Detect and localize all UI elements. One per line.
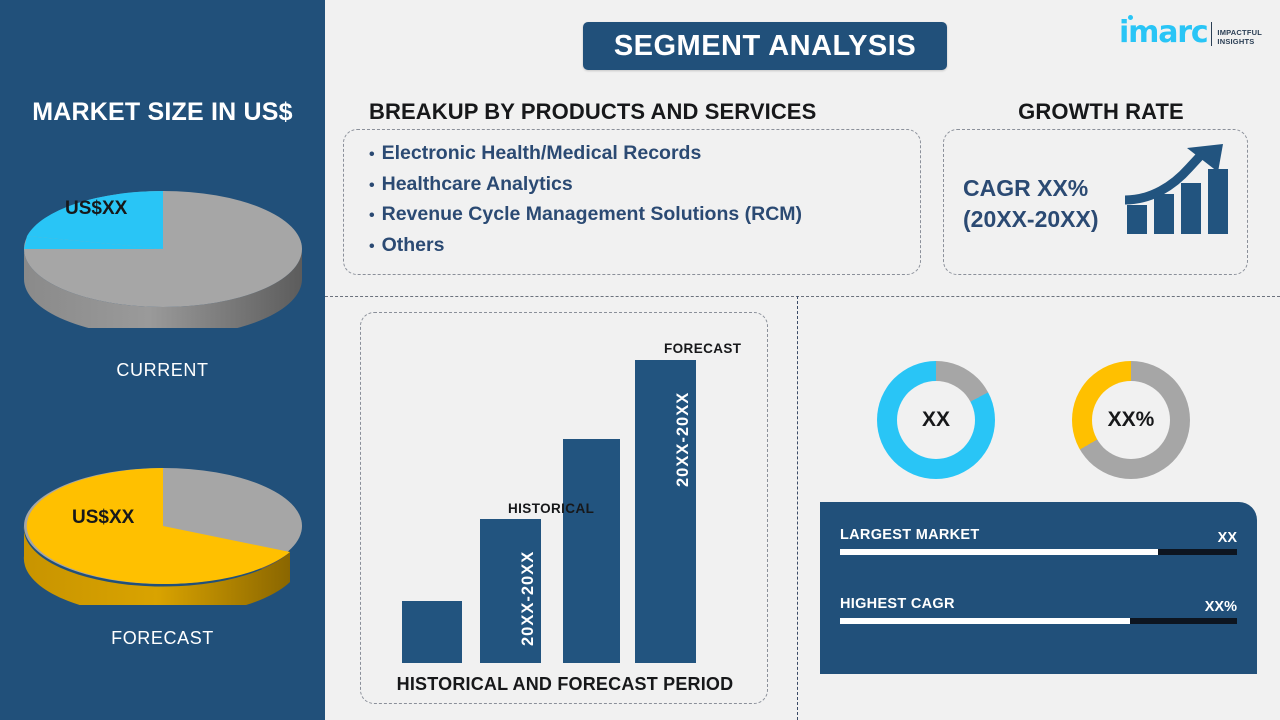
infographic-root: MARKET SIZE IN US$ US$XX bbox=[0, 0, 1280, 720]
current-pie-svg bbox=[22, 163, 304, 328]
current-market-pie bbox=[22, 163, 304, 328]
growth-rate-section-title: GROWTH RATE bbox=[941, 99, 1261, 125]
forecast-pie-svg bbox=[22, 440, 304, 605]
historical-annotation: HISTORICAL bbox=[508, 501, 594, 516]
imarc-logo: imarc IMPACTFUL INSIGHTS bbox=[1119, 12, 1262, 48]
list-item: • Revenue Cycle Management Solutions (RC… bbox=[369, 200, 802, 231]
bullet-icon: • bbox=[369, 202, 375, 231]
stat-row: HIGHEST CAGR XX% bbox=[840, 595, 1237, 624]
cagr-value: CAGR XX% bbox=[963, 173, 1099, 204]
bar-chart: 20XX-20XX 20XX-20XX HISTORICAL FORECAST … bbox=[361, 313, 769, 705]
market-stats-panel: LARGEST MARKET XX HIGHEST CAGR XX% bbox=[820, 502, 1257, 674]
bar-4: 20XX-20XX bbox=[635, 360, 696, 663]
list-item-label: Healthcare Analytics bbox=[382, 170, 573, 199]
forecast-annotation: FORECAST bbox=[664, 341, 741, 356]
units-donut: XX bbox=[877, 361, 995, 479]
bar-2: 20XX-20XX bbox=[480, 519, 541, 663]
forecast-market-pie bbox=[22, 440, 304, 605]
list-item: • Electronic Health/Medical Records bbox=[369, 139, 802, 170]
percent-donut-label: XX% bbox=[1092, 381, 1170, 459]
cagr-text: CAGR XX% (20XX-20XX) bbox=[963, 173, 1099, 235]
horizontal-divider bbox=[325, 296, 1280, 297]
products-and-services-list: • Electronic Health/Medical Records • He… bbox=[369, 139, 802, 261]
logo-tagline: IMPACTFUL INSIGHTS bbox=[1217, 28, 1262, 48]
bullet-icon: • bbox=[369, 172, 375, 201]
logo-wordmark: imarc bbox=[1119, 15, 1207, 50]
percent-donut: XX% bbox=[1072, 361, 1190, 479]
page-title: SEGMENT ANALYSIS bbox=[583, 22, 947, 70]
growth-arrow-chart-icon bbox=[1125, 142, 1230, 239]
stat-value: XX bbox=[1218, 530, 1237, 546]
list-item-label: Others bbox=[382, 231, 445, 260]
bar-4-label: 20XX-20XX bbox=[674, 392, 693, 487]
stat-progress-fill bbox=[840, 618, 1130, 624]
stat-row: LARGEST MARKET XX bbox=[840, 526, 1237, 555]
breakup-section-title: BREAKUP BY PRODUCTS AND SERVICES bbox=[369, 99, 816, 125]
stat-label: LARGEST MARKET bbox=[840, 527, 980, 543]
bullet-icon: • bbox=[369, 233, 375, 262]
bar-2-label: 20XX-20XX bbox=[519, 551, 538, 646]
market-size-title: MARKET SIZE IN US$ bbox=[0, 98, 325, 127]
stat-progress-track bbox=[840, 549, 1237, 555]
list-item: • Others bbox=[369, 231, 802, 262]
forecast-pie-caption: FORECAST bbox=[0, 628, 325, 649]
vertical-divider bbox=[797, 296, 798, 720]
stat-label: HIGHEST CAGR bbox=[840, 596, 955, 612]
cagr-period: (20XX-20XX) bbox=[963, 204, 1099, 235]
segment-analysis-panel: SEGMENT ANALYSIS imarc IMPACTFUL INSIGHT… bbox=[325, 0, 1280, 720]
current-pie-caption: CURRENT bbox=[0, 360, 325, 381]
bullet-icon: • bbox=[369, 141, 375, 170]
bar-3 bbox=[563, 439, 620, 663]
stat-value: XX% bbox=[1205, 599, 1237, 615]
stat-progress-track bbox=[840, 618, 1237, 624]
list-item-label: Revenue Cycle Management Solutions (RCM) bbox=[382, 200, 802, 229]
list-item: • Healthcare Analytics bbox=[369, 170, 802, 201]
logo-tagline-line1: IMPACTFUL bbox=[1217, 28, 1262, 37]
market-size-panel: MARKET SIZE IN US$ US$XX bbox=[0, 0, 325, 720]
units-donut-label: XX bbox=[897, 381, 975, 459]
logo-tagline-line2: INSIGHTS bbox=[1217, 37, 1262, 46]
bar-1 bbox=[402, 601, 462, 663]
stat-progress-fill bbox=[840, 549, 1158, 555]
logo-divider bbox=[1211, 22, 1212, 46]
historical-forecast-chart-box: 20XX-20XX 20XX-20XX HISTORICAL FORECAST … bbox=[360, 312, 768, 704]
list-item-label: Electronic Health/Medical Records bbox=[382, 139, 702, 168]
chart-axis-title: HISTORICAL AND FORECAST PERIOD bbox=[361, 674, 769, 695]
